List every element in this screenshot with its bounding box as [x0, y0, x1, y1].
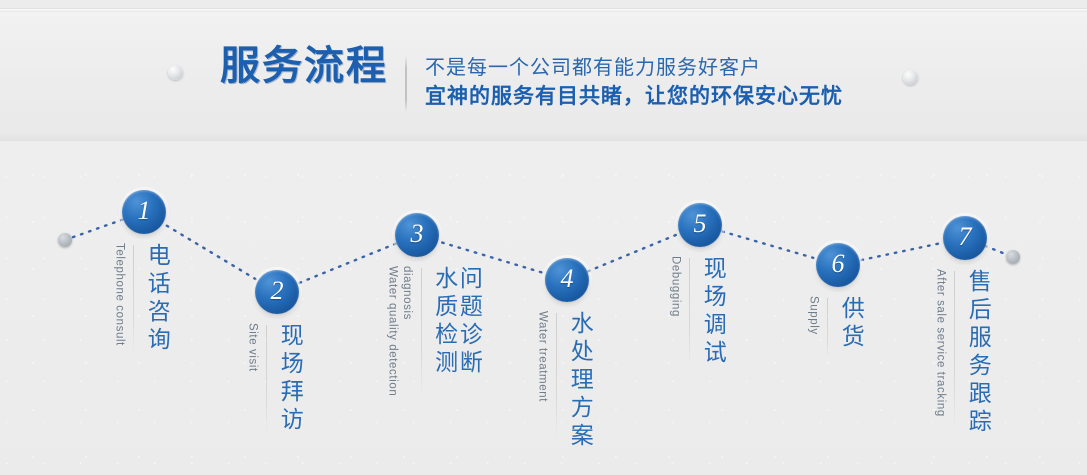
step-divider-4 [556, 313, 557, 437]
step-number-5: 5 [694, 211, 707, 239]
step-divider-6 [827, 298, 828, 358]
subtitle-line-2: 宜神的服务有目共睹，让您的环保安心无忧 [425, 82, 843, 111]
step-en-group-7: After sale service tracking [933, 269, 947, 417]
step-label-2: 现场拜访 Site visit [245, 323, 301, 435]
subtitle-line-1: 不是每一个公司都有能力服务好客户 [425, 55, 843, 82]
step-label-7: 售后服务跟踪 After sale service tracking [933, 269, 989, 437]
step-en-5-0: Debugging [668, 256, 682, 317]
step-node-3[interactable]: 3 [395, 213, 439, 257]
rivet-icon-right [903, 70, 918, 85]
step-node-6[interactable]: 6 [816, 243, 860, 287]
step-divider-1 [133, 245, 134, 353]
step-number-1: 1 [138, 198, 151, 226]
step-en-group-1: Telephone consult [112, 243, 126, 346]
step-en-group-2: Site visit [245, 323, 259, 372]
step-cn-3-0: 问题诊断 [456, 266, 481, 378]
step-label-3: 问题诊断 水质检测 Water quality detection diagno… [385, 266, 480, 396]
page-title: 服务流程 [220, 46, 388, 86]
step-cn-group-4: 水处理方案 [566, 311, 591, 451]
step-en-1-0: Telephone consult [112, 243, 126, 346]
step-en-3-0: Water quality detection [385, 266, 399, 396]
step-divider-7 [954, 271, 955, 431]
step-label-4: 水处理方案 Water treatment [535, 311, 591, 451]
step-cn-6-0: 供货 [837, 296, 862, 352]
step-number-7: 7 [959, 224, 972, 252]
step-divider-3 [421, 268, 422, 396]
step-node-4[interactable]: 4 [545, 258, 589, 302]
step-en-6-0: Supply [806, 296, 820, 335]
step-cn-4-0: 水处理方案 [566, 311, 591, 451]
band-top-hairline [0, 9, 1087, 12]
step-en-group-5: Debugging [668, 256, 682, 317]
step-cn-2-0: 现场拜访 [276, 323, 301, 435]
step-number-6: 6 [832, 251, 845, 279]
step-node-7[interactable]: 7 [943, 216, 987, 260]
step-cn-group-3: 问题诊断 水质检测 [431, 266, 481, 378]
step-en-4-0: Water treatment [535, 311, 549, 402]
rivet-icon-left [168, 65, 183, 80]
step-en-7-0: After sale service tracking [933, 269, 947, 417]
header-subtitle: 不是每一个公司都有能力服务好客户 宜神的服务有目共睹，让您的环保安心无忧 [425, 55, 843, 111]
step-cn-7-0: 售后服务跟踪 [964, 269, 989, 437]
step-label-5: 现场调试 Debugging [668, 256, 724, 368]
page-root: 服务流程 不是每一个公司都有能力服务好客户 宜神的服务有目共睹，让您的环保安心无… [0, 0, 1087, 475]
step-cn-group-2: 现场拜访 [276, 323, 301, 435]
step-number-2: 2 [271, 278, 284, 306]
step-cn-group-7: 售后服务跟踪 [964, 269, 989, 437]
end-dot [1006, 250, 1020, 264]
step-cn-group-6: 供货 [837, 296, 862, 352]
step-number-4: 4 [561, 266, 574, 294]
step-cn-group-1: 电话咨询 [143, 243, 168, 355]
step-en-group-4: Water treatment [535, 311, 549, 402]
step-en-group-3: Water quality detection diagnosis [385, 266, 414, 396]
step-label-1: 电话咨询 Telephone consult [112, 243, 168, 355]
start-dot [58, 233, 72, 247]
step-number-3: 3 [411, 221, 424, 249]
step-divider-5 [689, 258, 690, 366]
step-cn-5-0: 现场调试 [699, 256, 724, 368]
step-en-3-1: diagnosis [399, 266, 413, 396]
step-en-group-6: Supply [806, 296, 820, 335]
step-cn-1-0: 电话咨询 [143, 243, 168, 355]
step-node-1[interactable]: 1 [122, 190, 166, 234]
step-node-2[interactable]: 2 [255, 270, 299, 314]
step-node-5[interactable]: 5 [678, 203, 722, 247]
step-label-6: 供货 Supply [806, 296, 862, 358]
header-divider [405, 56, 407, 112]
step-cn-3-1: 水质检测 [431, 266, 456, 378]
step-cn-group-5: 现场调试 [699, 256, 724, 368]
step-divider-2 [266, 325, 267, 433]
step-en-2-0: Site visit [245, 323, 259, 372]
